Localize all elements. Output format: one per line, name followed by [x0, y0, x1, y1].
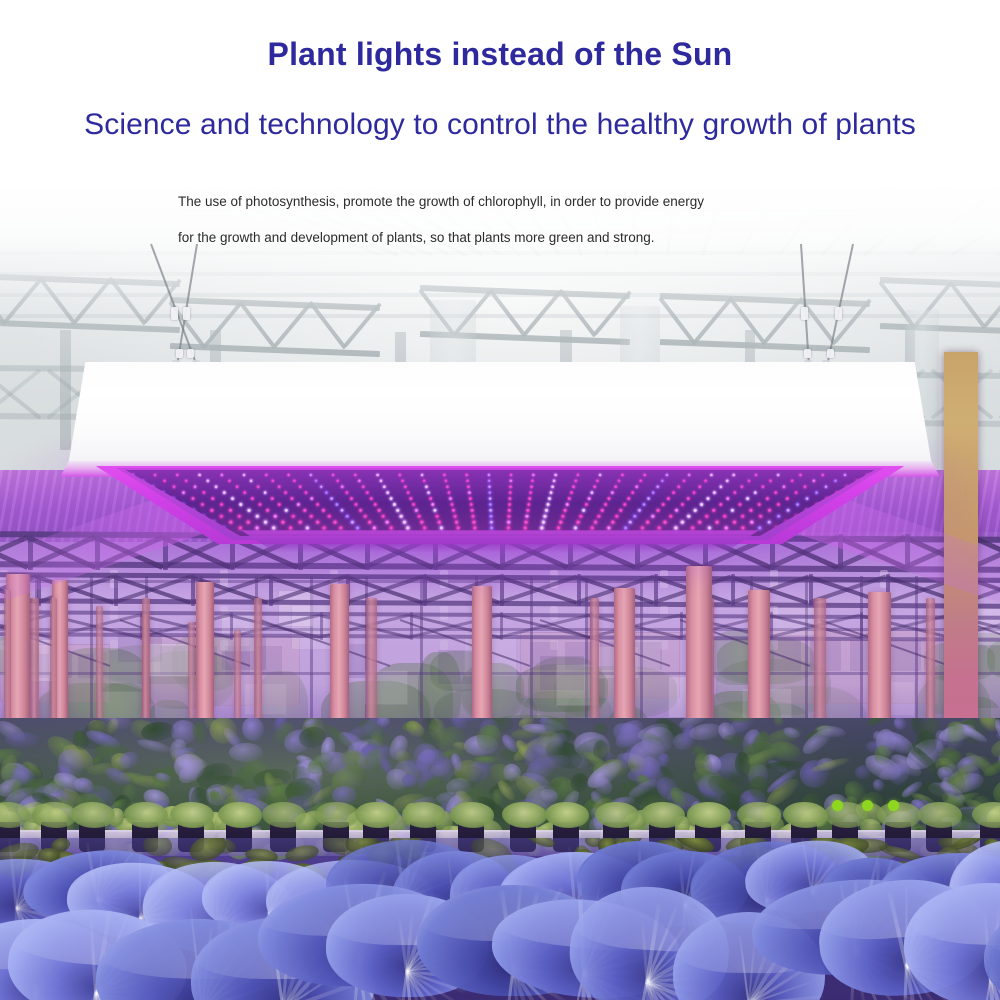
banner-text-block: Plant lights instead of the Sun Science … — [0, 0, 1000, 260]
page-subtitle: Science and technology to control the he… — [0, 108, 1000, 142]
carousel-dot-1[interactable] — [832, 800, 843, 811]
pot-plant — [502, 802, 546, 828]
pot-plant — [33, 802, 77, 828]
pot-plant — [355, 802, 399, 828]
back-soil-leaf — [525, 838, 556, 849]
foreground-cabbage-row — [0, 838, 1000, 1000]
carousel-indicators[interactable] — [832, 800, 912, 816]
page-title: Plant lights instead of the Sun — [0, 36, 1000, 73]
pot-plant — [641, 802, 685, 828]
cable-clamp — [804, 349, 811, 358]
pot-plant — [918, 802, 962, 828]
leaf-vein — [82, 992, 97, 1000]
cable-clamp — [801, 307, 808, 320]
back-soil-leaf — [283, 843, 320, 865]
pot-plant — [218, 802, 262, 828]
pot-plant — [783, 802, 827, 828]
pot-plant — [170, 802, 214, 828]
cable-clamp — [835, 307, 842, 320]
pot-plant — [972, 802, 1000, 828]
led-grow-light-fixture — [0, 340, 1000, 570]
pot-plant — [595, 802, 639, 828]
cable-clamp — [827, 349, 834, 358]
pot-plant — [737, 802, 781, 828]
pot-plant — [124, 802, 168, 828]
cable-clamp — [171, 307, 178, 320]
pot-plant — [545, 802, 589, 828]
carousel-dot-3[interactable] — [888, 800, 899, 811]
pot-plant — [687, 802, 731, 828]
pot-plant — [402, 802, 446, 828]
cable-clamp — [183, 307, 190, 320]
body-line-2: for the growth and development of plants… — [178, 220, 838, 256]
fixture-housing — [68, 362, 932, 466]
body-line-1: The use of photosynthesis, promote the g… — [178, 184, 838, 220]
carousel-dot-2[interactable] — [862, 800, 873, 811]
cable-clamp — [187, 349, 194, 358]
back-soil-leaf — [143, 838, 172, 856]
product-banner: Plant lights instead of the Sun Science … — [0, 0, 1000, 1000]
pot-plant — [71, 802, 115, 828]
pot-plant — [262, 802, 306, 828]
pot-plant — [450, 802, 494, 828]
cable-clamp — [176, 349, 183, 358]
body-copy: The use of photosynthesis, promote the g… — [178, 184, 838, 256]
pot-plant — [0, 802, 30, 828]
cabbage-plants — [0, 838, 1000, 1000]
pot-plant — [315, 802, 359, 828]
